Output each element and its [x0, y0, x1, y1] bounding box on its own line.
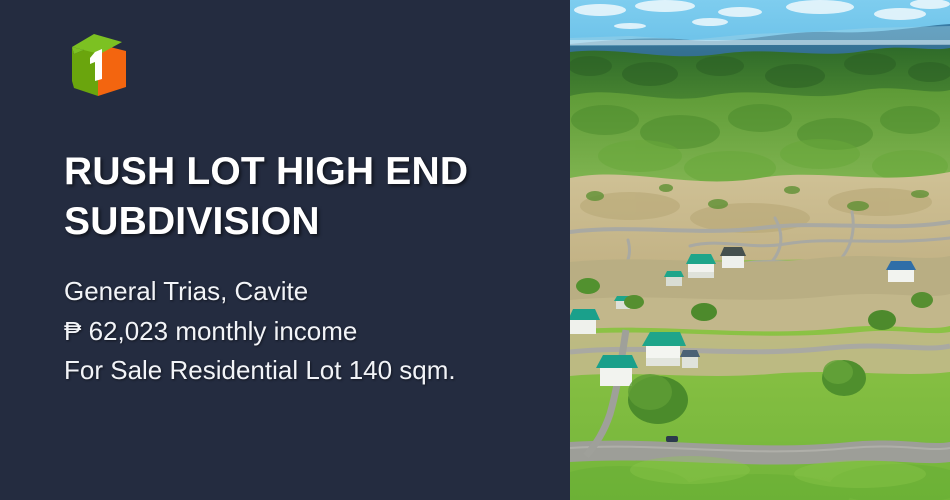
detail-monthly-income: ₱ 62,023 monthly income — [64, 312, 564, 352]
listing-details: General Trias, Cavite ₱ 62,023 monthly i… — [64, 272, 564, 391]
property-listing-banner: RUSH LOT HIGH END SUBDIVISION General Tr… — [0, 0, 950, 500]
aerial-subdivision-photo — [570, 0, 950, 500]
left-text-panel: RUSH LOT HIGH END SUBDIVISION General Tr… — [0, 0, 570, 500]
detail-property-type: For Sale Residential Lot 140 sqm. — [64, 351, 564, 391]
page-title: RUSH LOT HIGH END SUBDIVISION — [64, 147, 544, 247]
house-logo-icon — [64, 28, 132, 100]
detail-location: General Trias, Cavite — [64, 272, 564, 312]
